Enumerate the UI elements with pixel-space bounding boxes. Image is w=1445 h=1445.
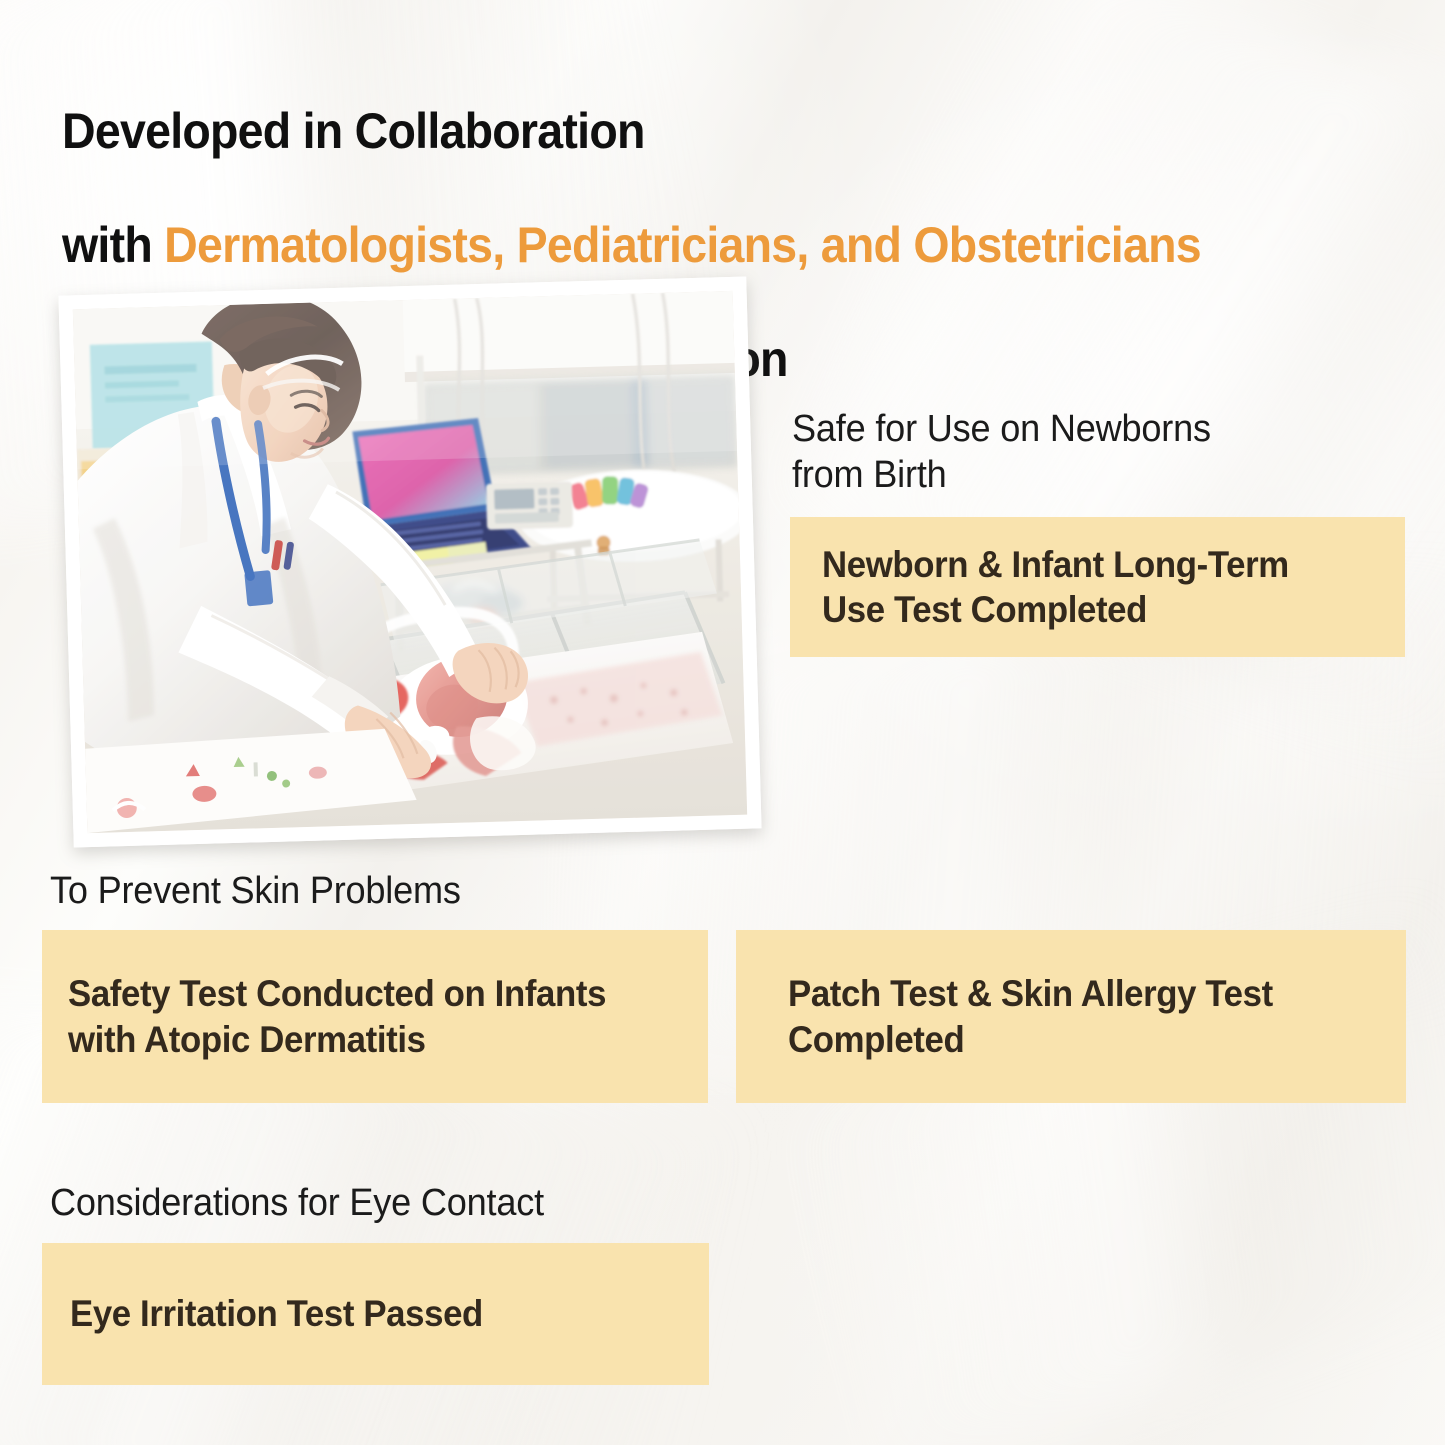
- caption-considerations-for-eye-contact: Considerations for Eye Contact: [50, 1180, 677, 1226]
- caption-prevent-skin-problems: To Prevent Skin Problems: [50, 868, 658, 914]
- headline-line-1: Developed in Collaboration: [62, 103, 1308, 160]
- headline-line-2: with Dermatologists, Pediatricians, and …: [62, 217, 1308, 274]
- badge-panel-newborn-long-term-test-text: Newborn & Infant Long-Term Use Test Comp…: [822, 542, 1289, 632]
- doctor-examining-newborn-in-incubator-photo: [73, 291, 747, 833]
- badge-panel-patch-and-allergy-test: Patch Test & Skin Allergy Test Completed: [736, 930, 1406, 1103]
- caption-safe-for-newborns: Safe for Use on Newborns from Birth: [792, 406, 1362, 499]
- headline-accent-text: Dermatologists, Pediatricians, and Obste…: [164, 217, 1201, 273]
- badge-panel-patch-and-allergy-test-text: Patch Test & Skin Allergy Test Completed: [788, 971, 1273, 1061]
- badge-panel-atopic-dermatitis-safety-test: Safety Test Conducted on Infants with At…: [42, 930, 708, 1103]
- infographic-page: Developed in Collaboration with Dermatol…: [0, 0, 1445, 1445]
- badge-panel-newborn-long-term-test: Newborn & Infant Long-Term Use Test Comp…: [790, 517, 1405, 657]
- photo-illustration: [73, 291, 747, 833]
- badge-panel-eye-irritation-test: Eye Irritation Test Passed: [42, 1243, 709, 1385]
- badge-panel-atopic-dermatitis-safety-test-text: Safety Test Conducted on Infants with At…: [68, 971, 606, 1061]
- headline-line-2-prefix: with: [62, 217, 164, 273]
- badge-panel-eye-irritation-test-text: Eye Irritation Test Passed: [70, 1291, 483, 1336]
- clinical-photo-frame: [58, 277, 761, 848]
